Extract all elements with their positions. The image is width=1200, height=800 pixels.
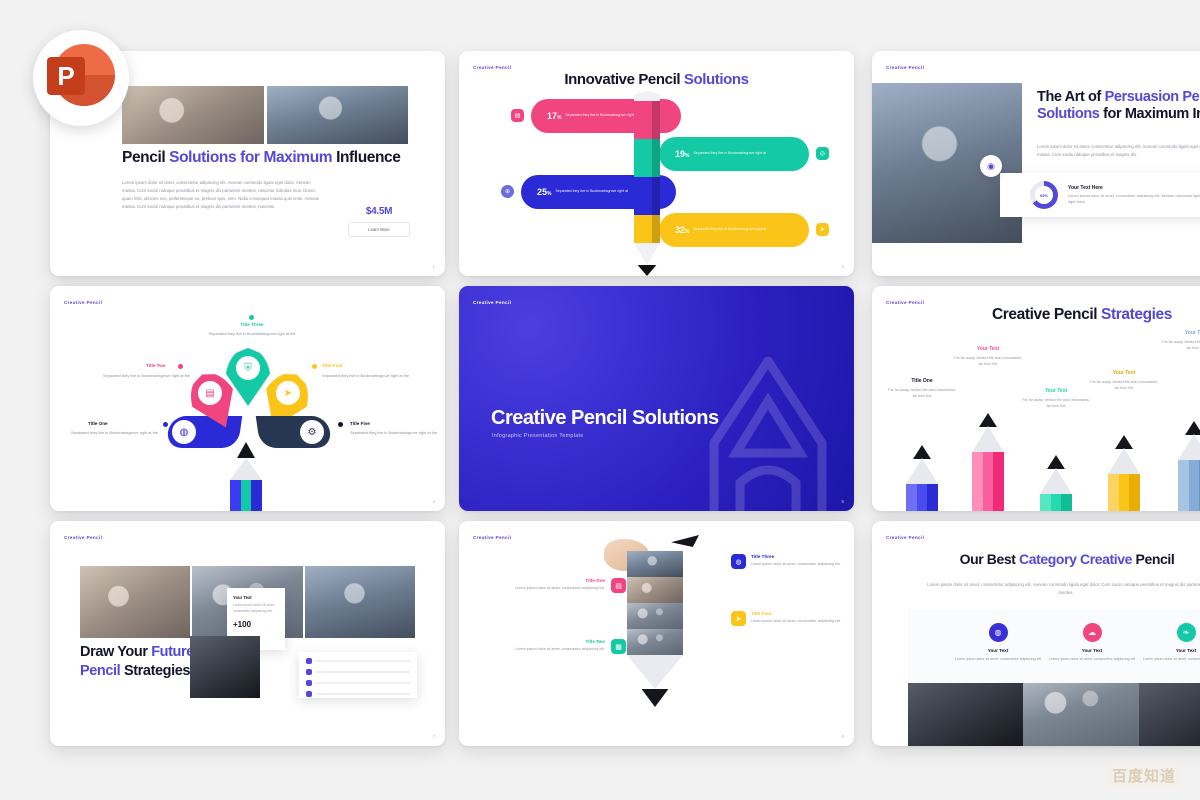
pencil-bar-label-1: Title One	[886, 378, 958, 384]
pencil-graphic	[634, 91, 660, 266]
photo-meeting-2	[267, 86, 409, 144]
petal-label-three: Title Three	[222, 322, 282, 327]
list-item[interactable]	[306, 680, 410, 686]
bullet-icon	[306, 691, 312, 697]
page-number: 8	[841, 734, 844, 739]
petal-label-one: Title One	[88, 421, 108, 426]
feature-title-1: Your Text	[954, 648, 1042, 653]
slide-3-title: The Art of Persuasion Pencil Solutions f…	[1037, 89, 1200, 123]
item-label-two: Title Two	[487, 639, 605, 644]
compass-icon: ◍	[989, 623, 1008, 642]
title-segment: Pencil	[1132, 551, 1174, 567]
title-segment-accent: Strategies	[1101, 306, 1172, 323]
pencil-bar-2[interactable]	[972, 413, 1004, 511]
pencil-bar-4[interactable]	[1108, 435, 1140, 511]
item-one[interactable]: Title One Lorem ipsum dolor sit amet, co…	[487, 578, 605, 591]
bar-percent-1: 17%	[547, 111, 561, 121]
pencil-outline-icon	[704, 357, 832, 511]
powerpoint-logo[interactable]: P	[33, 30, 129, 126]
slide-brand-label: Creative Pencil	[886, 300, 924, 305]
donut-value: 65%	[1040, 193, 1048, 198]
photo-desk-center	[1023, 674, 1138, 746]
feature-column-2[interactable]: ☁ Your Text Lorem ipsum dolor sit amet, …	[1048, 623, 1136, 683]
cloud-icon: ☁	[1083, 623, 1102, 642]
pencil-bar-text-5: Far far away, behind the word mountains,…	[1160, 339, 1200, 351]
bullet-icon	[306, 658, 312, 664]
feature-title-2: Your Text	[1048, 648, 1136, 653]
rocket-icon: ➤	[816, 223, 829, 236]
slide-thumbnail-9[interactable]: Creative Pencil Our Best Category Creati…	[872, 521, 1200, 746]
pencil-bar-3[interactable]	[1040, 455, 1072, 511]
photo-block-1	[627, 551, 683, 577]
list-line	[316, 671, 410, 673]
petal-dot-two	[178, 364, 183, 369]
slide-thumbnail-5[interactable]: Creative Pencil Creative Pencil Solution…	[459, 286, 854, 511]
feature-column-3[interactable]: ❧ Your Text Lorem ipsum dolor sit amet, …	[1142, 623, 1200, 683]
title-segment-accent: Category Creative	[1019, 551, 1132, 567]
petal-text-one: Separated they live in Bookmarksgrove ri…	[70, 430, 158, 437]
stat-value: $4.5M	[348, 206, 410, 217]
list-item[interactable]	[306, 658, 410, 664]
page-number: 4	[432, 499, 435, 504]
slide-thumbnail-7[interactable]: Creative Pencil Draw Your Future Creativ…	[50, 521, 445, 746]
settings-icon: ◉	[980, 155, 1002, 177]
bar-text-4: Separated they live in Bookmarksgrove ri…	[693, 227, 777, 232]
chart-icon: ▤	[611, 578, 626, 593]
title-segment: for Maximum Influence	[1099, 106, 1200, 122]
petal-label-two: Title Two	[146, 363, 165, 368]
photo-block-2	[627, 577, 683, 603]
bar-text-2: Separated they live in Bookmarksgrove ri…	[693, 151, 777, 156]
petal-text-two: Separated they live in Bookmarksgrove ri…	[102, 373, 190, 380]
logo-tile: P	[47, 57, 85, 95]
logo-letter: P	[57, 63, 74, 89]
learn-more-button[interactable]: Learn More	[348, 222, 410, 237]
feature-text-3: Lorem ipsum dolor sit amet, consectetur …	[1142, 656, 1200, 662]
slide-brand-label: Creative Pencil	[64, 535, 102, 540]
list-line	[316, 660, 410, 662]
item-text-one: Lorem ipsum dolor sit amet, consectetur …	[487, 585, 605, 591]
title-segment: Creative Pencil	[992, 306, 1101, 323]
slide-3-body: Lorem ipsum dolor sit amet, consectetur …	[1037, 143, 1200, 159]
page-number: 2	[841, 264, 844, 269]
watermark: 百度知道	[1106, 763, 1182, 788]
title-segment: The Art of	[1037, 89, 1105, 105]
overlay-list-card[interactable]	[299, 652, 417, 698]
feature-text-2: Lorem ipsum dolor sit amet, consectetur …	[1048, 656, 1136, 662]
pencil-tip-top-icon	[671, 535, 699, 547]
leaf-icon: ❧	[1177, 623, 1196, 642]
bullet-icon	[306, 669, 312, 675]
compass-icon: ◍	[172, 420, 196, 444]
list-item[interactable]	[306, 669, 410, 675]
photo-laptop	[190, 636, 260, 698]
list-line	[316, 682, 410, 684]
infographic-bar-2[interactable]: 19% Separated they live in Bookmarksgrov…	[659, 137, 809, 171]
rocket-icon: ➤	[276, 381, 300, 405]
page-number: 5	[841, 499, 844, 504]
petal-text-three: Separated they live in Bookmarksgrove ri…	[208, 331, 296, 338]
item-text-three: Lorem ipsum dolor sit amet, consectetur …	[751, 561, 854, 567]
photo-block-4	[627, 629, 683, 655]
pencil-bar-label-5: Your Text	[1160, 330, 1200, 336]
slide-thumbnail-4[interactable]: Creative Pencil ◍ Title One Separated th…	[50, 286, 445, 511]
title-segment: Pencil	[122, 149, 169, 166]
feature-column-1[interactable]: ◍ Your Text Lorem ipsum dolor sit amet, …	[954, 623, 1042, 683]
card-title: Your Text Here	[1068, 185, 1200, 191]
bar-percent-2: 19%	[675, 149, 689, 159]
title-segment-accent: Solutions	[684, 71, 749, 88]
slide-brand-label: Creative Pencil	[64, 300, 102, 305]
list-item[interactable]	[306, 691, 410, 697]
bullet-icon	[306, 680, 312, 686]
petal-text-four: Separated they live in Bookmarksgrove ri…	[322, 373, 410, 380]
slide-2-title: Innovative Pencil Solutions	[459, 71, 854, 89]
slide-brand-label: Creative Pencil	[473, 65, 511, 70]
feature-panel: ◍ Your Text Lorem ipsum dolor sit amet, …	[908, 609, 1200, 683]
slide-1-body: Lorem ipsum dolor sit amet, consectetur …	[122, 179, 320, 211]
donut-chart: 65%	[1030, 181, 1058, 209]
photo-office-pair	[305, 566, 415, 638]
petal-dot-five	[338, 422, 343, 427]
slide-thumbnail-6[interactable]: Creative Pencil Creative Pencil Strategi…	[872, 286, 1200, 511]
petal-dot-four	[312, 364, 317, 369]
rocket-icon: ➤	[731, 611, 746, 626]
slide-9-title: Our Best Category Creative Pencil	[898, 551, 1200, 568]
photo-cafe-team	[80, 566, 190, 638]
pencil-bar-5[interactable]	[1178, 421, 1200, 511]
stat-card[interactable]: 65% Your Text Here Lorem ipsum dolor sit…	[1000, 173, 1200, 217]
photo-block-3	[627, 603, 683, 629]
item-two[interactable]: Title Two Lorem ipsum dolor sit amet, co…	[487, 639, 605, 652]
slide-5-title: Creative Pencil Solutions	[491, 407, 719, 430]
petal-label-four: Title Four	[322, 363, 343, 368]
card-title: Your Text	[233, 595, 279, 600]
item-four[interactable]: Title Four Lorem ipsum dolor sit amet, c…	[751, 611, 854, 624]
gear-icon: ⚙	[300, 420, 324, 444]
chart-icon: ▤	[198, 381, 222, 405]
slide-brand-label: Creative Pencil	[473, 535, 511, 540]
slide-thumbnail-8[interactable]: Creative Pencil Title One Lorem ipsum do…	[459, 521, 854, 746]
item-label-three: Title Three	[751, 554, 854, 559]
item-text-two: Lorem ipsum dolor sit amet, consectetur …	[487, 646, 605, 652]
title-segment: Innovative Pencil	[564, 71, 684, 88]
feature-title-3: Your Text	[1142, 648, 1200, 653]
card-text: Lorem ipsum dolor sit amet, consectetur …	[1068, 193, 1200, 206]
chart-icon: ▤	[511, 109, 524, 122]
stat-box: $4.5M Learn More	[348, 206, 410, 237]
item-label-one: Title One	[487, 578, 605, 583]
petal-text-five: Separated they live in Bookmarksgrove ri…	[350, 430, 438, 437]
bar-percent-4: 32%	[675, 225, 689, 235]
item-three[interactable]: Title Three Lorem ipsum dolor sit amet, …	[751, 554, 854, 567]
petal-label-five: Title Five	[350, 421, 370, 426]
pencil-bar-label-3: Your Text	[1020, 388, 1092, 394]
target-icon: ◎	[816, 147, 829, 160]
book-icon: ▦	[611, 639, 626, 654]
slide-brand-label: Creative Pencil	[886, 65, 924, 70]
pencil-bar-text-1: Far far away, behind the word mountains,…	[886, 387, 958, 399]
slide-brand-label: Creative Pencil	[473, 300, 511, 305]
pencil-bar-label-4: Your Text	[1088, 370, 1160, 376]
pencil-bar-1[interactable]	[906, 445, 938, 511]
photo-suit-right	[1139, 674, 1200, 746]
pencil-bar-text-3: Far far away, behind the word mountains,…	[1020, 397, 1092, 409]
slide-6-title: Creative Pencil Strategies	[932, 306, 1200, 324]
title-segment-accent: Solutions for Maximum	[169, 149, 336, 166]
page-number: 7	[432, 734, 435, 739]
pencil-photo-stack	[627, 551, 683, 707]
slide-thumbnail-3[interactable]: Creative Pencil The Art of Persuasion Pe…	[872, 51, 1200, 276]
page-number: 1	[432, 264, 435, 269]
pencil-bar-text-4: Far far away, behind the word mountains,…	[1088, 379, 1160, 391]
compass-icon: ◍	[731, 554, 746, 569]
list-line	[316, 693, 410, 695]
slide-5-subtitle: Infographic Presentation Template	[492, 433, 584, 439]
shield-icon: ⛨	[236, 356, 260, 380]
title-segment: Draw Your	[80, 644, 151, 660]
petal-dot-one	[163, 422, 168, 427]
globe-icon: ⊕	[501, 185, 514, 198]
feature-text-1: Lorem ipsum dolor sit amet, consectetur …	[954, 656, 1042, 662]
slide-brand-label: Creative Pencil	[886, 535, 924, 540]
card-text: Lorem ipsum dolor sit amet, consectetur …	[233, 603, 279, 614]
title-segment: Influence	[336, 149, 400, 166]
bar-text-3: Separated they live in Bookmarksgrove ri…	[555, 189, 639, 194]
pencil-graphic	[230, 442, 262, 511]
petal-dot-three	[249, 315, 254, 320]
pencil-bar-text-2: Far far away, behind the word mountains,…	[952, 355, 1024, 367]
slide-1-title: Pencil Solutions for Maximum Influence	[122, 149, 422, 167]
slide-9-body: Lorem ipsum dolor sit amet, consectetur …	[924, 581, 1200, 597]
photo-meeting-1	[122, 86, 264, 144]
slide-thumbnail-2[interactable]: Creative Pencil Innovative Pencil Soluti…	[459, 51, 854, 276]
item-text-four: Lorem ipsum dolor sit amet, consectetur …	[751, 618, 854, 624]
slide-thumbnail-grid: Creative Pencil Pencil Solutions for Max…	[0, 0, 1200, 800]
photo-row	[122, 86, 408, 144]
item-label-four: Title Four	[751, 611, 854, 616]
infographic-bar-4[interactable]: 32% Separated they live in Bookmarksgrov…	[659, 213, 809, 247]
photo-suit-left	[908, 674, 1023, 746]
title-segment: Our Best	[960, 551, 1019, 567]
card-stat: +100	[233, 620, 279, 629]
bar-percent-3: 25%	[537, 187, 551, 197]
pencil-bar-label-2: Your Text	[952, 346, 1024, 352]
photo-strip	[908, 674, 1200, 746]
